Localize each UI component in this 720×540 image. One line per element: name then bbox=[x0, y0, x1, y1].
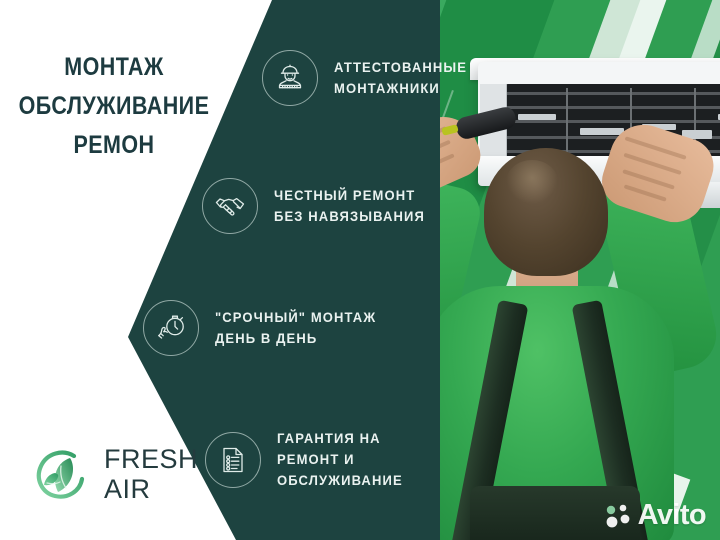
feature-4-line-1: ГАРАНТИЯ НА bbox=[277, 428, 403, 449]
brand-name-line-1: FRESH bbox=[104, 444, 198, 474]
hand-stopwatch-icon bbox=[143, 300, 199, 356]
feature-text-urgent-installation: "СРОЧНЫЙ" МОНТАЖ ДЕНЬ В ДЕНЬ bbox=[215, 307, 376, 349]
feature-2-line-2: БЕЗ НАВЯЗЫВАНИЯ bbox=[274, 206, 425, 227]
feature-4-line-3: ОБСЛУЖИВАНИЕ bbox=[277, 470, 403, 491]
feature-4-line-2: РЕМОНТ И bbox=[277, 449, 403, 470]
brand-logo: FRESH AIR bbox=[30, 442, 198, 506]
brand-logo-text: FRESH AIR bbox=[104, 444, 198, 504]
feature-2-line-1: ЧЕСТНЫЙ РЕМОНТ bbox=[274, 185, 425, 206]
feature-item-certified-installers: АТТЕСТОВАННЫЕ МОНТАЖНИКИ bbox=[262, 50, 477, 106]
technician-hair-highlight bbox=[506, 160, 558, 204]
feature-3-line-1: "СРОЧНЫЙ" МОНТАЖ bbox=[215, 307, 376, 328]
handshake-icon bbox=[202, 178, 258, 234]
headline-line-3: РЕМОН bbox=[16, 126, 212, 165]
feature-text-honest-repair: ЧЕСТНЫЙ РЕМОНТ БЕЗ НАВЯЗЫВАНИЯ bbox=[274, 185, 425, 227]
headline: МОНТАЖ ОБСЛУЖИВАНИЕ РЕМОН bbox=[16, 48, 212, 165]
brand-name-line-2: AIR bbox=[104, 474, 198, 504]
feature-1-line-1: АТТЕСТОВАННЫЕ bbox=[334, 57, 467, 78]
feature-item-honest-repair: ЧЕСТНЫЙ РЕМОНТ БЕЗ НАВЯЗЫВАНИЯ bbox=[202, 178, 436, 234]
feature-text-certified-installers: АТТЕСТОВАННЫЕ МОНТАЖНИКИ bbox=[334, 57, 467, 99]
leaf-swirl-icon bbox=[30, 442, 94, 506]
headline-line-2: ОБСЛУЖИВАНИЕ bbox=[16, 87, 212, 126]
feature-text-warranty: ГАРАНТИЯ НА РЕМОНТ И ОБСЛУЖИВАНИЕ bbox=[277, 428, 403, 491]
avito-wordmark: Avito bbox=[638, 501, 706, 530]
feature-3-line-2: ДЕНЬ В ДЕНЬ bbox=[215, 328, 376, 349]
advertisement-banner: МОНТАЖ ОБСЛУЖИВАНИЕ РЕМОН АТТЕСТОВАННЫЕ … bbox=[0, 0, 720, 540]
feature-1-line-2: МОНТАЖНИКИ bbox=[334, 78, 467, 99]
avito-dots-icon bbox=[605, 502, 633, 530]
hard-hat-worker-icon bbox=[262, 50, 318, 106]
avito-watermark: Avito bbox=[605, 501, 706, 530]
headline-line-1: МОНТАЖ bbox=[16, 48, 212, 87]
checklist-document-icon bbox=[205, 432, 261, 488]
feature-item-warranty: ГАРАНТИЯ НА РЕМОНТ И ОБСЛУЖИВАНИЕ bbox=[205, 428, 412, 491]
feature-item-urgent-installation: "СРОЧНЫЙ" МОНТАЖ ДЕНЬ В ДЕНЬ bbox=[143, 300, 388, 356]
